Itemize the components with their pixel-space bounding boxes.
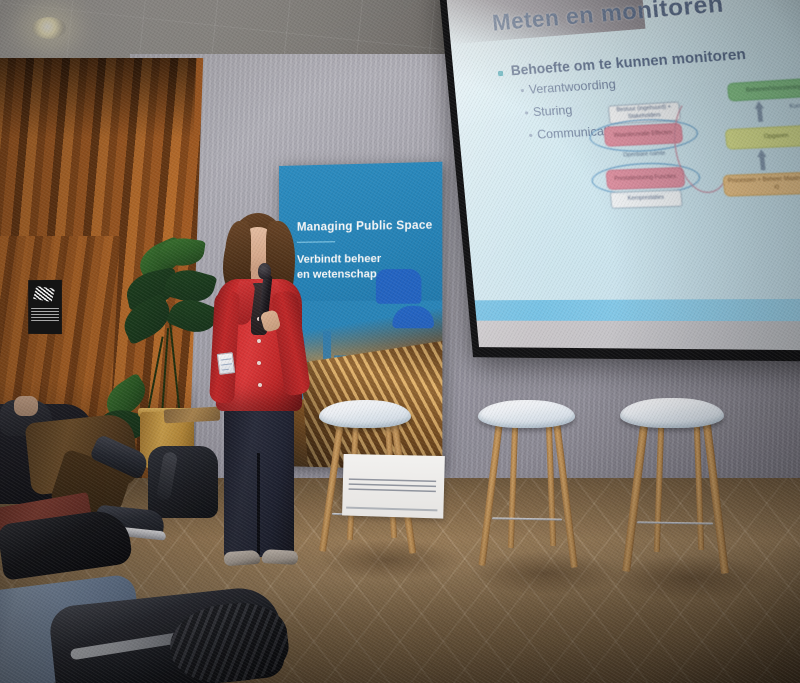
slide-sub-bullet-1: Sturing	[532, 102, 572, 119]
mps-logo-mark-icon	[33, 286, 55, 302]
stool-seat	[620, 398, 724, 428]
banner-footer-text	[349, 476, 437, 492]
audience-hand	[14, 396, 38, 416]
sub-bullet-marker-icon	[521, 89, 524, 92]
name-badge-line	[220, 358, 231, 361]
speaker-shoe	[224, 550, 261, 566]
stool-seat	[478, 400, 575, 428]
diagram-box-opgaven: Opgaven	[725, 124, 800, 150]
diagram-arrow-stem	[757, 107, 763, 121]
banner-footer-panel	[342, 454, 445, 519]
bullet-marker-icon	[498, 71, 503, 76]
microphone-head-icon	[258, 263, 271, 279]
diagram-label-kunst: Kunst	[789, 103, 800, 111]
diagram-box-prestatiesturing: Prestatiesturing Functies	[605, 167, 685, 190]
diagram-box-waardecreatie: Waardecreatie Effecten	[603, 123, 683, 147]
diagram-arrow-up-icon	[756, 149, 766, 157]
speaker-shoe	[262, 549, 299, 565]
stool-shadow	[318, 540, 458, 580]
mps-logo	[28, 280, 62, 334]
diagram-arrow-up-icon	[753, 101, 763, 109]
slide-diagram: Bestuur (ingehuurd) + Stakeholders Waard…	[576, 70, 800, 255]
projection-screen-surface: Meten en monitoren Behoefte om te kunnen…	[446, 0, 800, 351]
projection-screen: Meten en monitoren Behoefte om te kunnen…	[438, 0, 800, 362]
name-badge-line	[222, 369, 229, 371]
speaker-person	[196, 213, 318, 593]
sub-bullet-marker-icon	[529, 134, 532, 137]
curtain-top-shadow	[0, 58, 196, 138]
diagram-label-openbare-ruimte: Openbare ruimte	[623, 150, 666, 158]
presentation-photo-scene: Meten en monitoren Behoefte om te kunnen…	[0, 0, 800, 683]
ceiling-spotlight-icon	[32, 17, 66, 39]
sub-bullet-marker-icon	[525, 111, 528, 114]
mps-logo-caption	[31, 307, 59, 321]
banner-blue-shape	[376, 269, 422, 304]
stool-shadow	[612, 556, 770, 600]
name-badge	[217, 352, 235, 375]
diagram-box-kernprestaties: Kernprestaties	[610, 190, 683, 209]
banner-footer-rule	[346, 507, 437, 511]
stool-seat	[319, 400, 411, 428]
plant-stem	[169, 322, 181, 416]
diagram-box-beheer-voorzieningen: Beheren/Voorzieningen	[727, 77, 800, 102]
slide-footer-band	[475, 299, 800, 322]
stool-shadow	[470, 552, 620, 594]
diagram-box-processen-beheer: Processen + Beheer Maatregelen (4 x)	[722, 171, 800, 197]
screen-lower-blank	[477, 321, 800, 351]
slide-main-bullet: Behoefte om te kunnen monitoren	[510, 46, 746, 79]
name-badge-line	[221, 363, 232, 366]
speaker-trouser-seam	[257, 453, 260, 555]
diagram-arrow-stem	[760, 156, 766, 170]
